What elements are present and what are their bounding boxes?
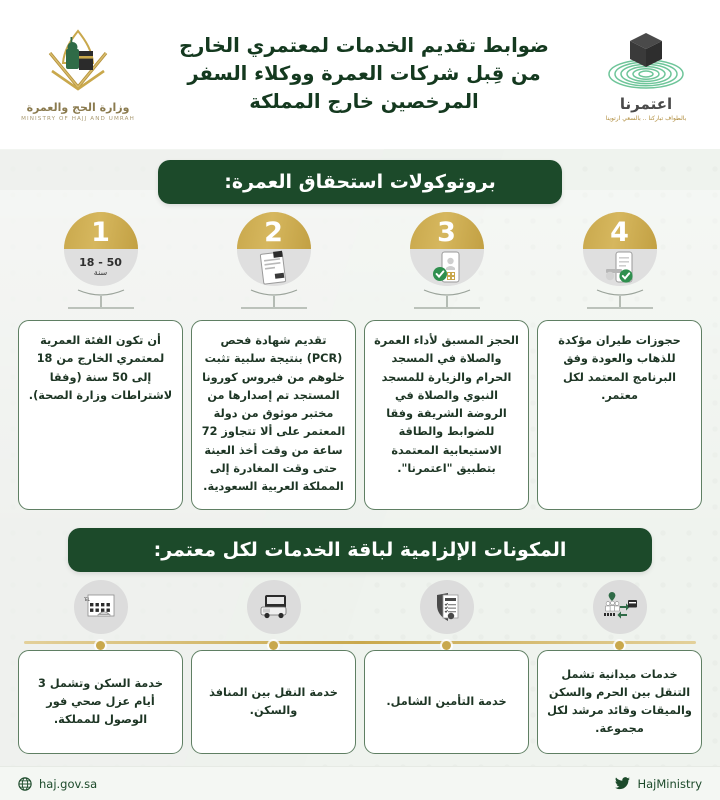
protocol-number-4: 4 <box>610 219 629 246</box>
protocol-icon-slot-2 <box>237 249 311 286</box>
protocol-number-badge-4: 4 <box>583 212 657 249</box>
stand-graphic-1 <box>66 288 136 314</box>
title-line-2: من قِبل شركات العمرة ووكلاء السفر <box>148 60 580 88</box>
protocol-number-1: 1 <box>91 219 110 246</box>
service-card-1: خدمة السكن وتشمل 3 أيام عزل صحي فور الوص… <box>18 650 183 754</box>
mobile-qr-check-icon <box>430 249 464 286</box>
protocol-circle-1: 1 50 - 18 سنة <box>64 212 138 286</box>
protocol-circle-3: 3 <box>410 212 484 286</box>
website-url: haj.gov.sa <box>39 777 97 791</box>
timeline-dot-4 <box>615 641 624 650</box>
protocol-number-2: 2 <box>264 219 283 246</box>
ministry-hajj-umrah-emblem-icon <box>30 27 126 99</box>
services-icons-row: HOTEL <box>18 580 702 650</box>
protocol-icon-slot-4 <box>583 249 657 286</box>
svg-text:HOTEL: HOTEL <box>84 597 91 602</box>
pcr-certificate-icon <box>259 249 289 286</box>
hotel-building-icon: HOTEL <box>74 580 128 634</box>
services-banner: المكونات الإلزامية لباقة الخدمات لكل معت… <box>68 528 652 572</box>
protocols-banner-label: بروتوكولات استحقاق العمرة: <box>224 171 495 193</box>
timeline-dot-1 <box>96 641 105 650</box>
twitter-handle: HajMinistry <box>637 777 702 791</box>
protocol-card-2: تقديم شهادة فحص (PCR) بنتيجة سلبية تثبت … <box>191 320 356 510</box>
globe-icon <box>18 777 32 791</box>
protocol-icon-slot-3 <box>410 249 484 286</box>
title-line-1: ضوابط تقديم الخدمات لمعتمري الخارج <box>148 32 580 60</box>
insurance-shield-document-icon <box>420 580 474 634</box>
timeline-dot-3 <box>442 641 451 650</box>
page-title: ضوابط تقديم الخدمات لمعتمري الخارج من قِ… <box>142 32 586 117</box>
eatamarna-logo: اعتمرنا بالطواف تباركنا .. بالسعي ارتوين… <box>586 27 706 122</box>
service-card-2: خدمة النقل بين المنافذ والسكن. <box>191 650 356 754</box>
title-line-3: المرخصين خارج المملكة <box>148 88 580 116</box>
protocol-card-4: حجوزات طيران مؤكدة للذهاب والعودة وفق ال… <box>537 320 702 510</box>
service-card-3: خدمة التأمين الشامل. <box>364 650 529 754</box>
service-item-2 <box>191 580 356 650</box>
protocol-card-3: الحجز المسبق لأداء العمرة والصلاة في الم… <box>364 320 529 510</box>
infographic-page: اعتمرنا بالطواف تباركنا .. بالسعي ارتوين… <box>0 0 720 800</box>
protocols-banner: بروتوكولات استحقاق العمرة: <box>158 160 562 204</box>
protocol-item-4: 4 <box>537 212 702 324</box>
service-item-3 <box>364 580 529 650</box>
protocol-number-badge-3: 3 <box>410 212 484 249</box>
protocol-card-1: أن تكون الفئة العمرية لمعتمري الخارج من … <box>18 320 183 510</box>
eatamarna-tagline: بالطواف تباركنا .. بالسعي ارتوينا <box>606 115 687 122</box>
service-item-1: HOTEL <box>18 580 183 650</box>
website-link[interactable]: haj.gov.sa <box>18 777 97 791</box>
protocol-circle-4: 4 <box>583 212 657 286</box>
stand-graphic-3 <box>412 288 482 314</box>
ministry-name-ar: وزارة الحج والعمرة <box>27 101 130 114</box>
protocol-item-1: 1 50 - 18 سنة <box>18 212 183 324</box>
service-item-4 <box>537 580 702 650</box>
protocol-number-3: 3 <box>437 219 456 246</box>
bus-transport-icon <box>247 580 301 634</box>
timeline-dot-2 <box>269 641 278 650</box>
age-range-unit: سنة <box>94 269 107 278</box>
twitter-link[interactable]: HajMinistry <box>615 777 702 791</box>
protocol-circle-2: 2 <box>237 212 311 286</box>
page-header: اعتمرنا بالطواف تباركنا .. بالسعي ارتوين… <box>0 0 720 148</box>
kaaba-ripple-logo-icon <box>603 27 689 93</box>
ministry-name-en: MINISTRY OF HAJJ AND UMRAH <box>21 116 135 122</box>
stand-graphic-2 <box>239 288 309 314</box>
protocol-item-3: 3 <box>364 212 529 324</box>
protocol-number-badge-1: 1 <box>64 212 138 249</box>
mobile-booking-check-icon <box>602 249 638 286</box>
protocol-cards-row: أن تكون الفئة العمرية لمعتمري الخارج من … <box>18 320 702 516</box>
field-services-route-icon <box>593 580 647 634</box>
page-footer: HajMinistry haj.gov.sa <box>0 766 720 800</box>
eatamarna-name: اعتمرنا <box>620 95 672 113</box>
protocol-number-badge-2: 2 <box>237 212 311 249</box>
services-banner-label: المكونات الإلزامية لباقة الخدمات لكل معت… <box>154 539 567 561</box>
services-cards-row: خدمة السكن وتشمل 3 أيام عزل صحي فور الوص… <box>18 650 702 760</box>
protocol-item-2: 2 <box>191 212 356 324</box>
service-card-4: خدمات ميدانية تشمل التنقل بين الحرم والس… <box>537 650 702 754</box>
twitter-bird-icon <box>615 777 630 790</box>
stand-graphic-4 <box>585 288 655 314</box>
ministry-logo: وزارة الحج والعمرة MINISTRY OF HAJJ AND … <box>14 27 142 122</box>
age-range-badge-icon: 50 - 18 سنة <box>64 249 138 286</box>
protocol-icons-row: 1 50 - 18 سنة 2 <box>18 212 702 324</box>
